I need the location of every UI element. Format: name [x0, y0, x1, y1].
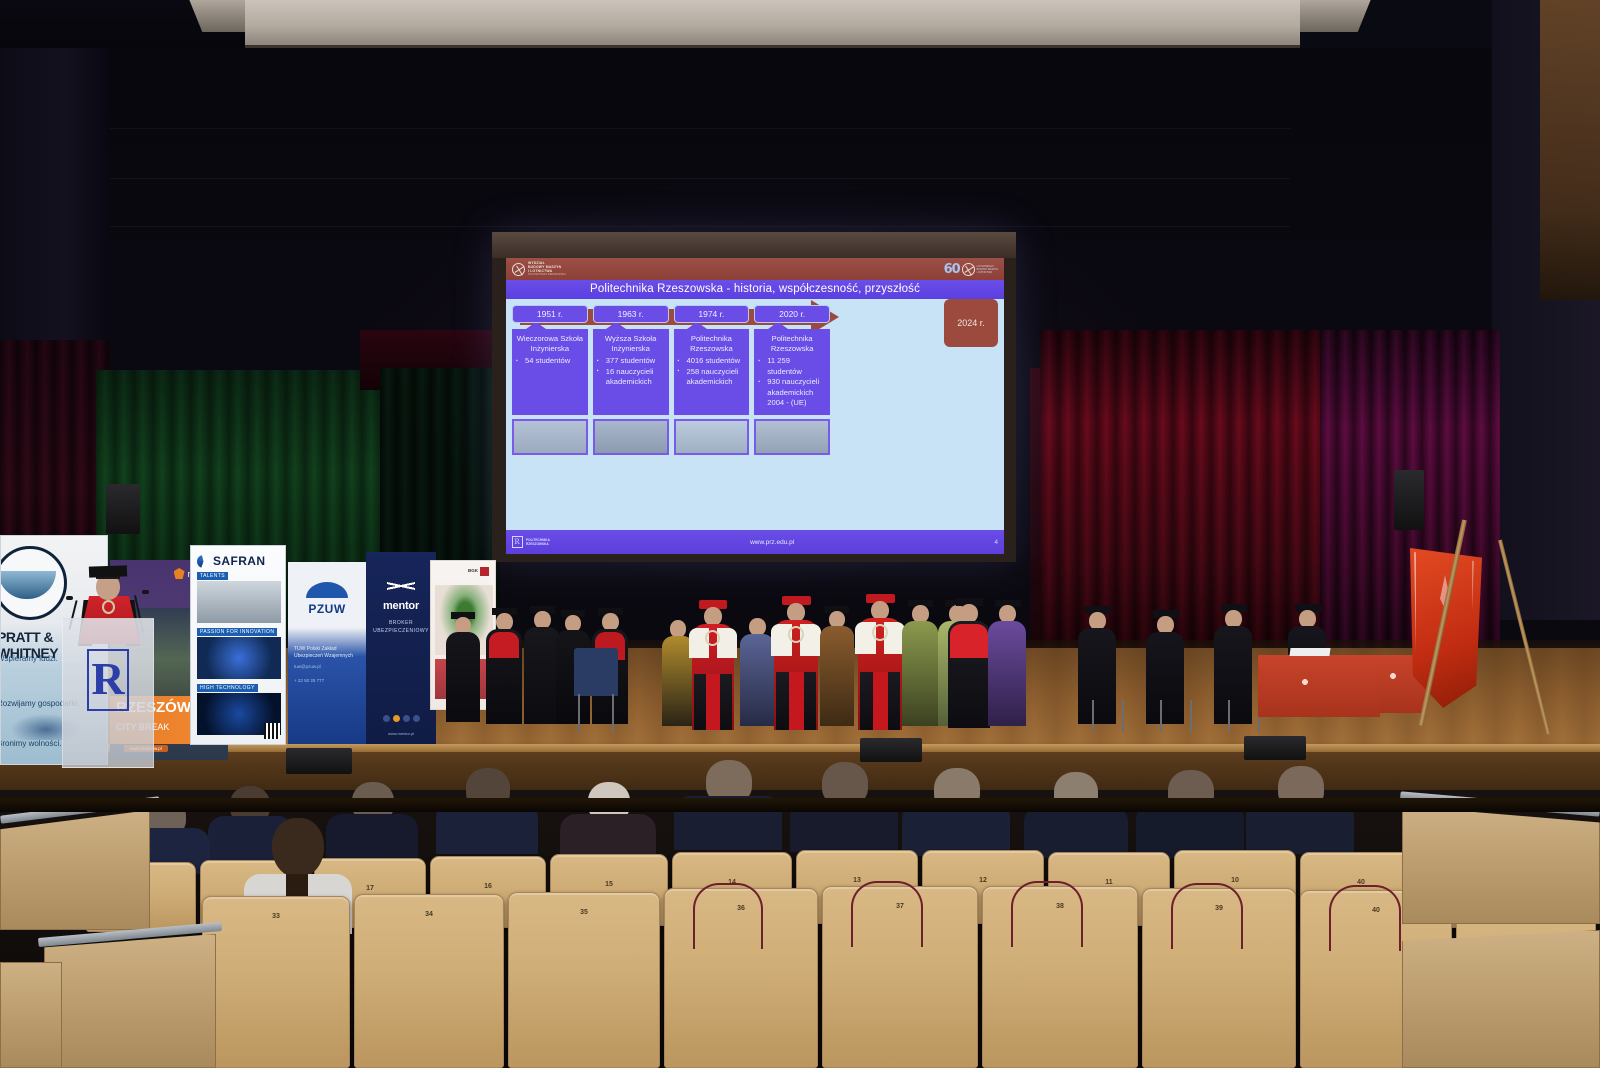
slide-body: 1951 r. 1963 r. 1974 r. 2020 r. 2024 r. … — [506, 299, 1004, 539]
aisle-side-panel — [1402, 930, 1600, 1068]
pratt-whitney-roundel-icon — [0, 546, 67, 620]
safran-swirl-icon — [197, 555, 210, 568]
slide-footer: POLITECHNIKA RZESZOWSKA www.prz.edu.pl 4 — [506, 530, 1004, 554]
column-bullets: 54 studentów — [516, 356, 584, 367]
wall-warm-light-right — [1540, 0, 1600, 300]
column-title-line1: Wieczorowa Szkoła — [516, 334, 584, 344]
faculty-logo-sub: POLITECHNIKA RZESZOWSKA — [528, 273, 566, 277]
seat-reserved-strap — [1329, 885, 1401, 951]
seat-number: 33 — [203, 913, 349, 920]
anniversary-emblem-icon — [962, 263, 975, 276]
prz-podium-emblem-icon: R — [87, 649, 129, 711]
column-title-line2: Rzeszowska — [678, 344, 746, 354]
batten-line — [110, 178, 1290, 179]
safran-name: SAFRAN — [213, 554, 265, 568]
seat-number: 34 — [355, 911, 503, 918]
column-bullets: 4016 studentów 258 nauczycieli akademick… — [678, 356, 746, 388]
empty-chair — [574, 648, 618, 696]
projection-screen-roller — [492, 232, 1016, 258]
column-bullet: 258 nauczycieli akademickich — [678, 367, 746, 388]
pratt-whitney-line1: Wspieramy ludzi. — [0, 654, 58, 663]
audience-seat[interactable]: 36 — [664, 888, 818, 1068]
pa-speaker-left — [106, 484, 140, 534]
mentor-logo-icon — [387, 576, 415, 596]
presentation-table — [1258, 655, 1380, 717]
rzeszow-crest-icon — [174, 568, 185, 579]
slide-header: WYDZIAŁ BUDOWY MASZYN I LOTNICTWA POLITE… — [506, 258, 1004, 280]
seat-reserved-strap — [1171, 883, 1243, 949]
auditorium-photo: WYDZIAŁ BUDOWY MASZYN I LOTNICTWA POLITE… — [0, 0, 1600, 1068]
podium: R — [62, 618, 154, 768]
slide-title: Politechnika Rzeszowska - historia, wspó… — [506, 280, 1004, 299]
mentor-social-icons — [366, 715, 436, 722]
column-title-line1: Politechnika — [758, 334, 826, 344]
presentation-slide: WYDZIAŁ BUDOWY MASZYN I LOTNICTWA POLITE… — [506, 258, 1004, 554]
linkedin-icon — [413, 715, 420, 722]
audience-seat[interactable]: 38 — [982, 886, 1138, 1068]
column-bullets: 11 259 studentów 930 nauczycieli akademi… — [758, 356, 826, 409]
aisle-side-panel — [44, 934, 216, 1068]
chain-of-office — [102, 600, 115, 614]
university-logo: POLITECHNIKA RZESZOWSKA — [512, 536, 550, 548]
prz-emblem-icon — [512, 536, 523, 548]
aisle-side-panel — [0, 810, 150, 930]
column-title-line1: Wyższa Szkoła — [597, 334, 665, 344]
pzuw-line3: + 22 50 25 777 — [294, 678, 324, 684]
pa-speaker-right — [1394, 470, 1424, 530]
column-bullets: 377 studentów 16 nauczycieli akademickic… — [597, 356, 665, 388]
dignitary — [902, 600, 938, 726]
anniversary-line3: I LOTNICTWA — [977, 271, 998, 274]
audience-seat[interactable]: 39 — [1142, 888, 1296, 1068]
audience-seat[interactable]: 33 — [202, 896, 350, 1068]
ceiling-panel — [245, 0, 1300, 48]
column-bullet: 377 studentów — [597, 356, 665, 367]
timeline-column: Politechnika Rzeszowska 4016 studentów 2… — [674, 329, 750, 415]
timeline-year-2024: 2024 r. — [944, 299, 998, 347]
column-title-line2: Rzeszowska — [758, 344, 826, 354]
timeline-column: Politechnika Rzeszowska 11 259 studentów… — [754, 329, 830, 415]
anniversary-logo: 60 LAT WYDZIAŁU BUDOWY MASZYN I LOTNICTW… — [944, 262, 998, 277]
dignitary — [1214, 604, 1252, 724]
column-bullet: 54 studentów — [516, 356, 584, 367]
safran-tag-innovation: PASSION FOR INNOVATION — [197, 628, 277, 636]
audience-shoulders — [1024, 806, 1128, 858]
dignitary — [486, 608, 522, 724]
seat-number: 15 — [551, 881, 667, 888]
safran-tag-technology: HIGH TECHNOLOGY — [197, 684, 258, 692]
historic-building-photo — [512, 419, 588, 455]
stage-monitor-speaker — [1244, 736, 1306, 760]
seat-number: 16 — [431, 883, 545, 890]
banner-pzuw: PZUW TUW Polski Zakład Ubezpieczeń Wzaje… — [288, 562, 366, 744]
faculty-logo: WYDZIAŁ BUDOWY MASZYN I LOTNICTWA POLITE… — [512, 261, 566, 277]
timeline-year-1974: 1974 r. — [674, 305, 750, 323]
safran-section-innovation: PASSION FOR INNOVATION — [197, 628, 281, 679]
timeline-column: Wyższa Szkoła Inżynierska 377 studentów … — [593, 329, 669, 415]
batten-line — [110, 128, 1290, 129]
mentor-name: mentor — [366, 600, 436, 612]
academic-cap — [89, 565, 127, 577]
audience-shoulders — [326, 814, 418, 862]
footer-url: www.prz.edu.pl — [750, 539, 794, 546]
audience-head — [272, 818, 324, 878]
column-bullet: 2004 - (UE) — [758, 398, 826, 409]
dignitary-rector — [858, 594, 902, 730]
pzuw-arc-icon — [306, 582, 348, 598]
dignitary — [446, 612, 480, 722]
youtube-icon — [403, 715, 410, 722]
audience-seat[interactable]: 35 — [508, 892, 660, 1068]
mentor-subtitle-line1: BROKER — [366, 620, 436, 628]
banner-safran: SAFRAN TALENTS PASSION FOR INNOVATION HI… — [190, 545, 286, 745]
slide-thumbnails — [512, 419, 830, 455]
audience-seat[interactable]: 37 — [822, 886, 978, 1068]
mentor-subtitle-line2: UBEZPIECZENIOWY — [366, 628, 436, 636]
timeline-year-1951: 1951 r. — [512, 305, 588, 323]
column-title-line1: Politechnika — [678, 334, 746, 344]
dignitary — [820, 606, 854, 726]
safran-team-photo — [197, 581, 281, 623]
footer-logo-line2: RZESZOWSKA — [526, 542, 550, 546]
qr-code-icon — [264, 723, 280, 739]
aisle-side-panel — [0, 962, 62, 1068]
mentor-url: www.mentor.pl — [366, 731, 436, 736]
timeline-year-1963: 1963 r. — [593, 305, 669, 323]
microphone-head-left — [66, 596, 73, 600]
dignitary-rector — [692, 600, 734, 730]
batten-line — [110, 226, 1290, 227]
safran-turbine-photo — [197, 637, 281, 679]
column-title-line2: Inżynierska — [597, 344, 665, 354]
seat-reserved-strap — [693, 883, 763, 949]
pzuw-name: PZUW — [288, 602, 366, 616]
faculty-emblem-icon — [512, 263, 525, 276]
main-building-photo — [674, 419, 750, 455]
pratt-whitney-line3: Bronimy wolności. — [0, 739, 61, 748]
timeline-year-2020: 2020 r. — [754, 305, 830, 323]
university-table-logo-2 — [1388, 671, 1414, 681]
bgk-mark-icon — [480, 567, 489, 576]
stage-shadow-line — [0, 798, 1600, 812]
safran-section-talents: TALENTS — [197, 572, 281, 623]
dignitary-rector — [774, 596, 818, 730]
safran-logo: SAFRAN — [197, 554, 265, 568]
seat-number: 35 — [509, 909, 659, 916]
audience-seat[interactable]: 34 — [354, 894, 504, 1068]
aisle-side-panel — [1402, 806, 1600, 924]
stage-monitor-speaker — [860, 738, 922, 762]
timeline-column: Wieczorowa Szkoła Inżynierska 54 student… — [512, 329, 588, 415]
seat-reserved-strap — [851, 881, 923, 947]
bgk-name: BGK — [468, 568, 478, 573]
instagram-icon — [393, 715, 400, 722]
column-title-line2: Inżynierska — [516, 344, 584, 354]
anniversary-number: 60 — [944, 262, 960, 277]
document-on-table — [1289, 648, 1330, 656]
dignitary — [988, 600, 1026, 726]
stage-monitor-speaker — [286, 748, 352, 774]
timeline-year-row: 1951 r. 1963 r. 1974 r. 2020 r. — [512, 305, 830, 323]
microphone-head-right — [142, 590, 149, 594]
safran-tag-talents: TALENTS — [197, 572, 228, 580]
dignitary — [1078, 606, 1116, 724]
seat-reserved-strap — [1011, 881, 1083, 947]
university-table-logo — [1300, 677, 1326, 687]
banner-mentor: mentor BROKER UBEZPIECZENIOWY www.mentor… — [366, 552, 436, 744]
dignitary — [740, 614, 774, 726]
column-bullet: 11 259 studentów — [758, 356, 826, 377]
column-bullet: 16 nauczycieli akademickich — [597, 367, 665, 388]
footer-page-number: 4 — [994, 539, 998, 546]
aerial-campus-photo — [754, 419, 830, 455]
facebook-icon — [383, 715, 390, 722]
dignitary — [948, 598, 990, 728]
pzuw-line1: TUW Polski Zakład Ubezpieczeń Wzajemnych — [294, 646, 366, 660]
column-bullet: 930 nauczycieli akademickich — [758, 377, 826, 398]
column-bullet: 4016 studentów — [678, 356, 746, 367]
timeline-columns: Wieczorowa Szkoła Inżynierska 54 student… — [512, 329, 830, 415]
dignitary — [1146, 610, 1184, 724]
pzuw-line2: tuw@pzuw.pl — [294, 664, 321, 670]
dignitary — [524, 606, 560, 724]
campus-building-photo — [593, 419, 669, 455]
